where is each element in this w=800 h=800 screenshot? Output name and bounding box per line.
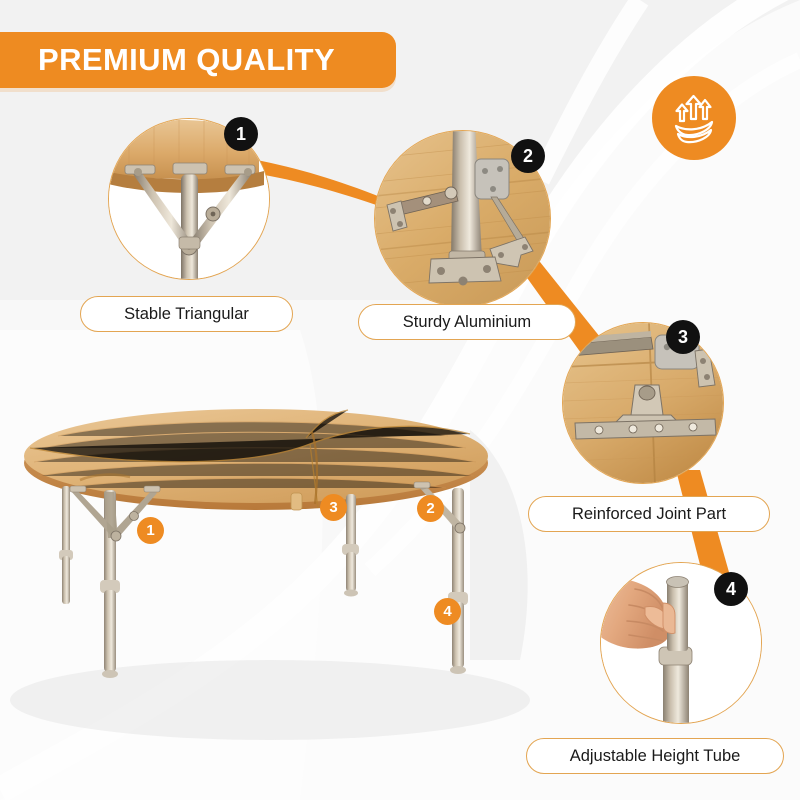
load-capacity-arrows-icon [667, 91, 721, 145]
product-marker-2[interactable]: 2 [417, 495, 444, 522]
round-bamboo-folding-table [18, 408, 508, 708]
detail-badge-1: 1 [224, 117, 258, 151]
reinforced-joint-hardware-photo [563, 323, 724, 484]
page-title: PREMIUM QUALITY [0, 42, 335, 78]
caption-pill-2[interactable]: Sturdy Aluminium [358, 304, 576, 340]
product-marker-4[interactable]: 4 [434, 598, 461, 625]
detail-badge-2: 2 [511, 139, 545, 173]
feature-icon-badge [652, 76, 736, 160]
caption-pill-1[interactable]: Stable Triangular [80, 296, 293, 332]
product-marker-3[interactable]: 3 [320, 494, 347, 521]
caption-pill-4[interactable]: Adjustable Height Tube [526, 738, 784, 774]
detail-circle-3[interactable] [562, 322, 724, 484]
detail-badge-3: 3 [666, 320, 700, 354]
header-banner: PREMIUM QUALITY [0, 32, 396, 88]
caption-pill-3[interactable]: Reinforced Joint Part [528, 496, 770, 532]
detail-badge-4: 4 [714, 572, 748, 606]
product-marker-1[interactable]: 1 [137, 517, 164, 544]
